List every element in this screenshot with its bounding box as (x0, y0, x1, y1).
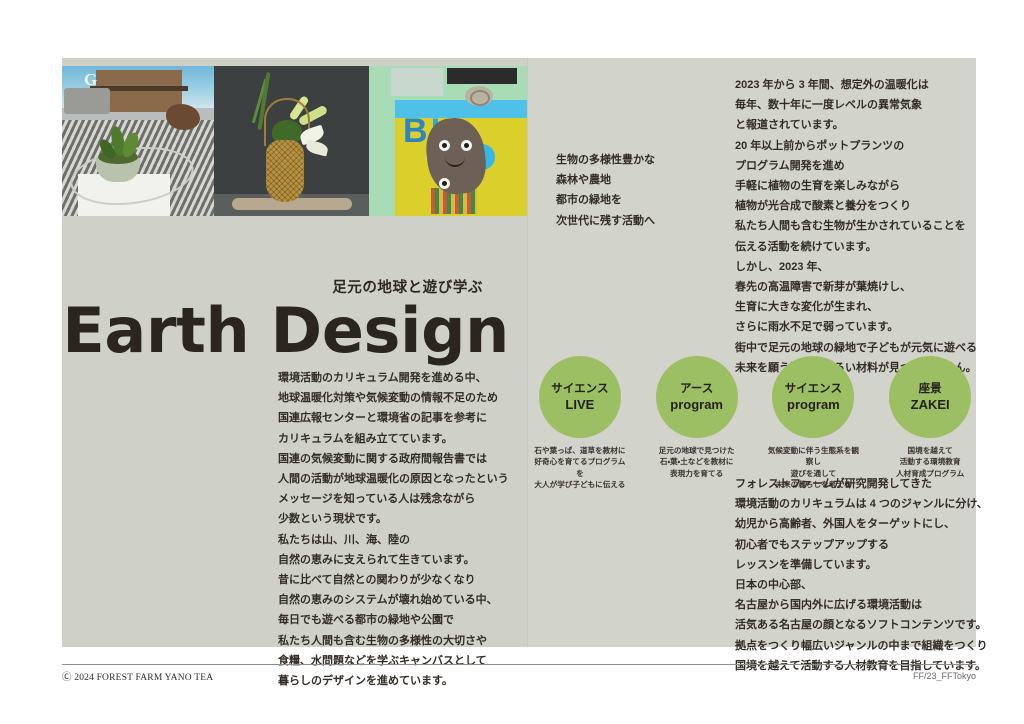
program-label-line2: ZAKEI (911, 397, 950, 412)
photo-felt-rock-character: B U (369, 66, 527, 216)
footer: Ⓒ 2024 FOREST FARM YANO TEA FF/23_FFToky… (62, 669, 976, 683)
photo-strip: G (62, 66, 527, 216)
headline-block: 足元の地球と遊び学ぶ Earth Design (62, 276, 527, 362)
photo-potted-moss-plant: G (62, 66, 214, 216)
copyright-text: Ⓒ 2024 FOREST FARM YANO TEA (62, 669, 213, 683)
program-label-line2: program (670, 397, 723, 412)
program-item-science-live[interactable]: サイエンス LIVE 石や葉っぱ、道草を教材に 好奇心を育てるプログラムを 大人… (534, 356, 626, 491)
lead-copy-text: 2023 年から 3 年間、想定外の温暖化は 毎年、数十年に一度レベルの異常気象… (735, 75, 997, 378)
program-circle-science-live[interactable]: サイエンス LIVE (539, 356, 621, 438)
program-item-science-program[interactable]: サイエンス program 気候変動に伴う生態系を観察し 遊びを通して 未来の暮… (768, 356, 860, 491)
content-panel: G (62, 58, 976, 647)
document-reference: FF/23_FFTokyo (913, 671, 976, 681)
program-label-line1: アース (680, 382, 713, 397)
program-item-earth-program[interactable]: アース program 足元の地球で見つけた 石・葉・土などを教材に 表現力を育… (651, 356, 743, 491)
footer-divider (62, 664, 976, 665)
page-title: Earth Design (62, 299, 527, 362)
closing-copy-text: フォレストファームが研究開発してきた 環境活動のカリキュラムは 4 つのジャンル… (735, 474, 997, 676)
program-label-line2: program (787, 397, 840, 412)
left-body-copy: 環境活動のカリキュラム開発を進める中、 地球温暖化対策や気候変動の情報不足のため… (278, 368, 528, 691)
program-label-line1: サイエンス (551, 382, 608, 397)
program-item-zakei[interactable]: 座景 ZAKEI 国境を越えて 活動する環境教育 人材育成プログラム (884, 356, 976, 491)
program-circle-science-program[interactable]: サイエンス program (772, 356, 854, 438)
lead-copy: 2023 年から 3 年間、想定外の温暖化は 毎年、数十年に一度レベルの異常気象… (735, 75, 997, 378)
mid-copy: 生物の多様性豊かな 森林や農地 都市の緑地を 次世代に残す活動へ (556, 150, 716, 231)
left-body-copy-text: 環境活動のカリキュラム開発を進める中、 地球温暖化対策や気候変動の情報不足のため… (278, 368, 528, 691)
slide-page: G (0, 0, 1024, 724)
program-label-line2: LIVE (565, 397, 594, 412)
program-circle-zakei[interactable]: 座景 ZAKEI (889, 356, 971, 438)
closing-copy: フォレストファームが研究開発してきた 環境活動のカリキュラムは 4 つのジャンル… (735, 474, 997, 676)
mid-copy-text: 生物の多様性豊かな 森林や農地 都市の緑地を 次世代に残す活動へ (556, 150, 716, 231)
program-circle-earth-program[interactable]: アース program (656, 356, 738, 438)
program-label-line1: 座景 (919, 382, 942, 397)
photo-ikebana-basket (214, 66, 369, 216)
program-caption: 足元の地球で見つけた 石・葉・土などを教材に 表現力を育てる (651, 445, 743, 479)
program-caption: 石や葉っぱ、道草を教材に 好奇心を育てるプログラムを 大人が学び子どもに伝える (534, 445, 626, 491)
program-label-line1: サイエンス (785, 382, 842, 397)
program-list: サイエンス LIVE 石や葉っぱ、道草を教材に 好奇心を育てるプログラムを 大人… (534, 356, 976, 491)
